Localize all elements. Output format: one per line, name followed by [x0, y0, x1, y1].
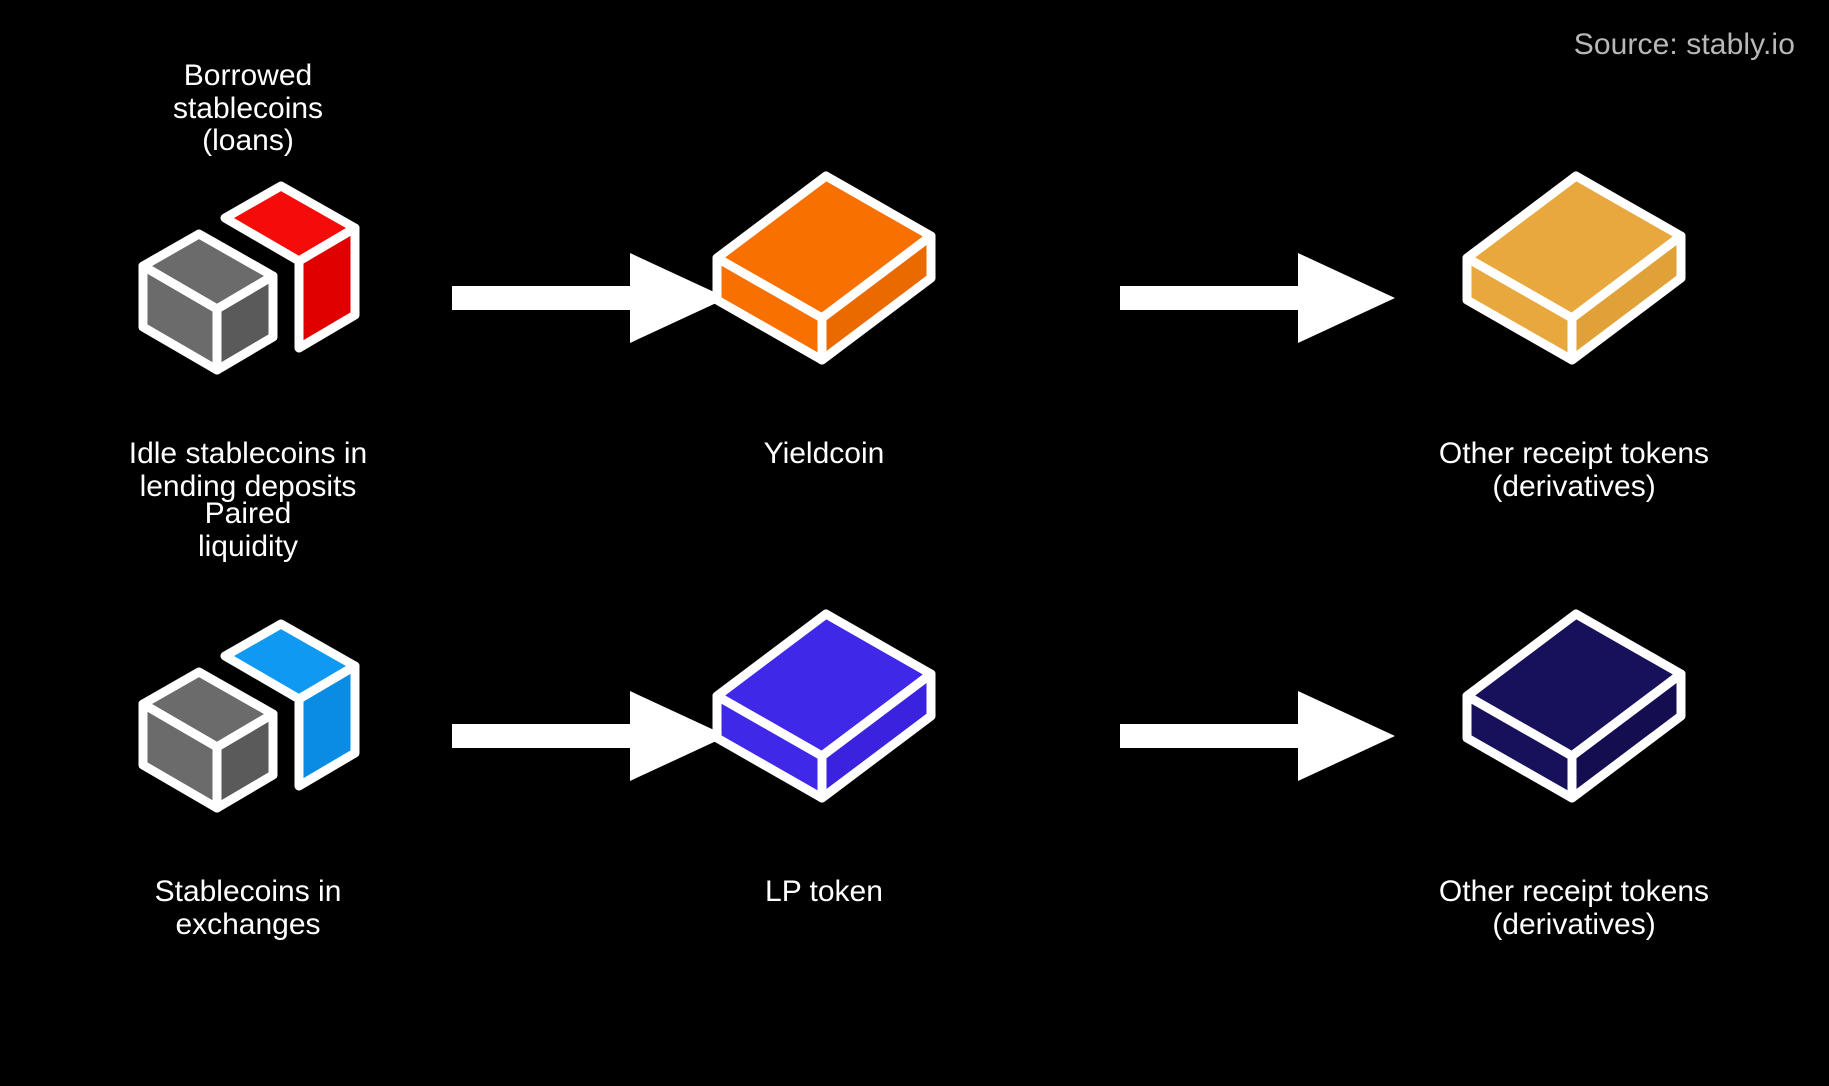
- caption-lp-token: LP token: [604, 876, 1044, 909]
- caption-yieldcoin: Yieldcoin: [604, 438, 1044, 471]
- shape-compound-cube-red: [28, 170, 468, 380]
- shape-box-gold: [1354, 170, 1794, 366]
- diagram-canvas: Source: stably.io Borrowed stablecoins (…: [0, 0, 1829, 1086]
- shape-compound-cube-cyan: [28, 608, 468, 818]
- shape-box-purple: [604, 608, 1044, 804]
- caption-stablecoins-exchanges: Stablecoins in exchanges: [28, 876, 468, 941]
- caption-borrowed-stablecoins: Borrowed stablecoins (loans): [28, 60, 468, 158]
- caption-paired-liquidity: Paired liquidity: [28, 498, 468, 563]
- shape-box-orange: [604, 170, 1044, 366]
- caption-receipt-tokens-derivatives-bottom: Other receipt tokens (derivatives): [1354, 876, 1794, 941]
- shape-box-navy: [1354, 608, 1794, 804]
- flow-row-bottom: Paired liquidity Stablecoins in exchange…: [0, 478, 1829, 948]
- flow-row-top: Borrowed stablecoins (loans): [0, 40, 1829, 510]
